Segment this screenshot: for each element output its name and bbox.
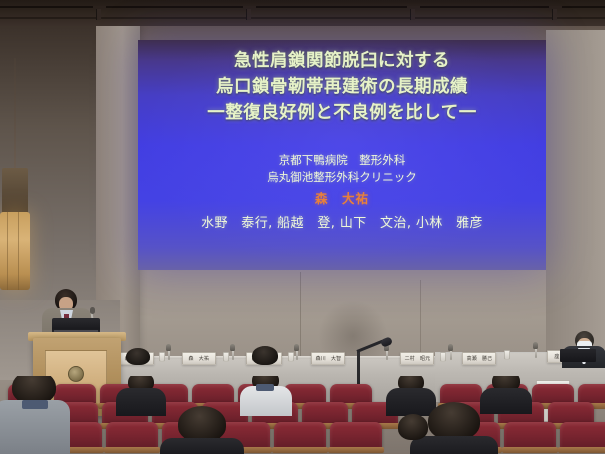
nameplate: 森川 大智 xyxy=(311,352,345,365)
audience-head xyxy=(398,414,428,440)
slide-content: 急性肩鎖関節脱臼に対する 烏口鎖骨靭帯再建術の長期成績 一整復良好例と不良例を比… xyxy=(138,40,546,270)
audience-collar xyxy=(256,384,274,391)
audience-body xyxy=(386,388,436,416)
microphone-icon xyxy=(448,344,453,351)
water-cup xyxy=(504,350,510,360)
slide-title-line-1: 急性肩鎖関節脱臼に対する xyxy=(234,48,450,74)
chairperson-laptop xyxy=(560,349,596,362)
podium-microphone-icon xyxy=(90,307,95,314)
slide-title-line-3: 一整復良好例と不良例を比して一 xyxy=(207,100,476,126)
microphone-icon xyxy=(294,344,299,351)
ceiling-beam xyxy=(0,6,605,8)
sconce-body xyxy=(2,168,28,214)
seat xyxy=(274,422,326,450)
nameplate: 森 大祐 xyxy=(182,352,216,365)
audience-head xyxy=(178,406,226,442)
nameplate-text: 高瀬 勝己 xyxy=(466,355,492,362)
panelist-head xyxy=(126,348,150,365)
wall-lamp-icon xyxy=(0,212,30,290)
panelist-head xyxy=(252,346,278,365)
water-cup xyxy=(440,352,446,362)
right-wall-panel xyxy=(546,30,605,360)
slide-affiliation-1: 京都下鴨病院 整形外科 xyxy=(279,152,406,169)
seat xyxy=(330,422,382,450)
seat xyxy=(106,422,158,450)
slide-presenter-name: 森 大祐 xyxy=(315,189,369,208)
audience-body xyxy=(410,436,498,454)
seat xyxy=(560,422,605,450)
audience-head xyxy=(428,402,480,440)
nameplate-text: 森 大祐 xyxy=(189,355,209,362)
nameplate: 二村 昭元 xyxy=(400,352,434,365)
ceiling-strut xyxy=(246,6,251,20)
ceiling-strut xyxy=(96,6,101,20)
slide-coauthor-names: 水野 泰行, 船越 登, 山下 文治, 小林 雅彦 xyxy=(201,214,483,234)
slide-title-line-2: 烏口鎖骨靭帯再建術の長期成績 xyxy=(216,74,468,100)
microphone-icon xyxy=(230,344,235,351)
ceiling-strut xyxy=(552,6,557,20)
sconce-rod xyxy=(14,58,16,170)
microphone-icon xyxy=(166,344,171,351)
audience-collar xyxy=(22,400,48,409)
slide-affiliation-2: 烏丸御池整形外科クリニック xyxy=(267,169,417,186)
ceiling-strut xyxy=(410,6,415,20)
audience-body xyxy=(160,438,244,454)
seat xyxy=(504,422,556,450)
audience-body xyxy=(116,388,166,416)
nameplate-text: 二村 昭元 xyxy=(404,355,430,362)
wall-shadow xyxy=(318,300,388,360)
ceiling xyxy=(0,0,605,26)
microphone-icon xyxy=(533,342,538,349)
audience-seating xyxy=(0,376,605,454)
nameplate: 高瀬 勝己 xyxy=(462,352,496,365)
conference-hall-photo: 急性肩鎖関節脱臼に対する 烏口鎖骨靭帯再建術の長期成績 一整復良好例と不良例を比… xyxy=(0,0,605,454)
audience-body xyxy=(480,388,532,414)
ceiling-beam xyxy=(0,17,605,19)
projection-screen: 急性肩鎖関節脱臼に対する 烏口鎖骨靭帯再建術の長期成績 一整復良好例と不良例を比… xyxy=(138,40,546,270)
water-cup xyxy=(223,352,229,362)
nameplate-text: 森川 大智 xyxy=(315,355,341,362)
water-cup xyxy=(288,352,294,362)
water-cup xyxy=(159,352,165,362)
